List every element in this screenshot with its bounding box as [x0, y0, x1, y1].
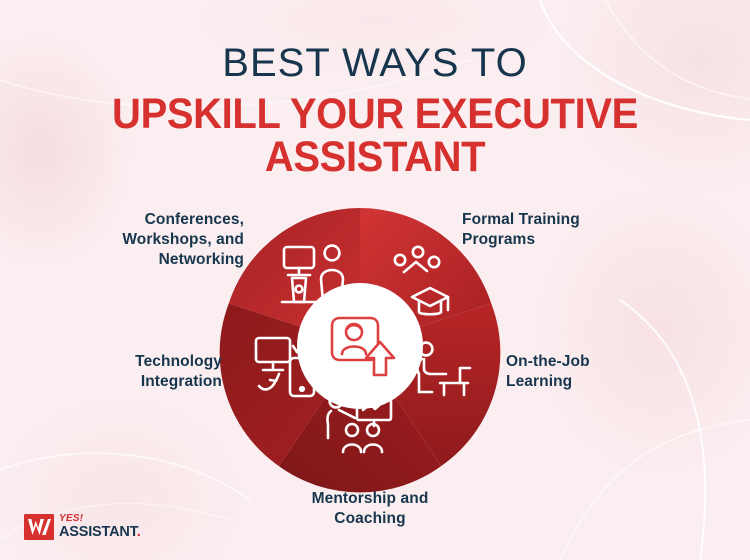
donut-center-circle: [297, 283, 423, 409]
label-technology-integration: Technology Integration: [58, 352, 222, 392]
label-line: On-the-Job: [506, 352, 696, 372]
label-line: Learning: [506, 372, 696, 392]
label-formal-training-programs: Formal Training Programs: [462, 210, 672, 250]
label-line: Coaching: [268, 509, 472, 529]
label-line: Mentorship and: [268, 489, 472, 509]
label-line: Workshops, and: [50, 230, 244, 250]
logo-assistant-word: ASSISTANT: [59, 524, 137, 540]
logo-period: .: [137, 524, 141, 540]
label-line: Conferences,: [50, 210, 244, 230]
label-mentorship-and-coaching: Mentorship and Coaching: [268, 489, 472, 529]
logo-wordmark: YES! ASSISTANT.: [59, 514, 141, 540]
infographic-canvas: BEST WAYS TO UPSKILL YOUR EXECUTIVE ASSI…: [0, 0, 750, 560]
label-line: Programs: [462, 230, 672, 250]
page-title: BEST WAYS TO UPSKILL YOUR EXECUTIVE ASSI…: [0, 42, 750, 179]
label-on-the-job-learning: On-the-Job Learning: [506, 352, 696, 392]
label-conferences-workshops-networking: Conferences, Workshops, and Networking: [50, 210, 244, 270]
logo-assistant-text: ASSISTANT.: [59, 525, 141, 540]
title-main: BEST WAYS TO: [0, 42, 750, 84]
logo-yes-text: YES!: [59, 514, 141, 524]
label-line: Integration: [58, 372, 222, 392]
label-line: Technology: [58, 352, 222, 372]
label-line: Formal Training: [462, 210, 672, 230]
yes-assistant-logo-mark-icon: [24, 512, 54, 542]
title-subtitle: UPSKILL YOUR EXECUTIVE ASSISTANT: [26, 93, 724, 179]
label-line: Networking: [50, 250, 244, 270]
brand-logo[interactable]: YES! ASSISTANT.: [24, 512, 141, 542]
